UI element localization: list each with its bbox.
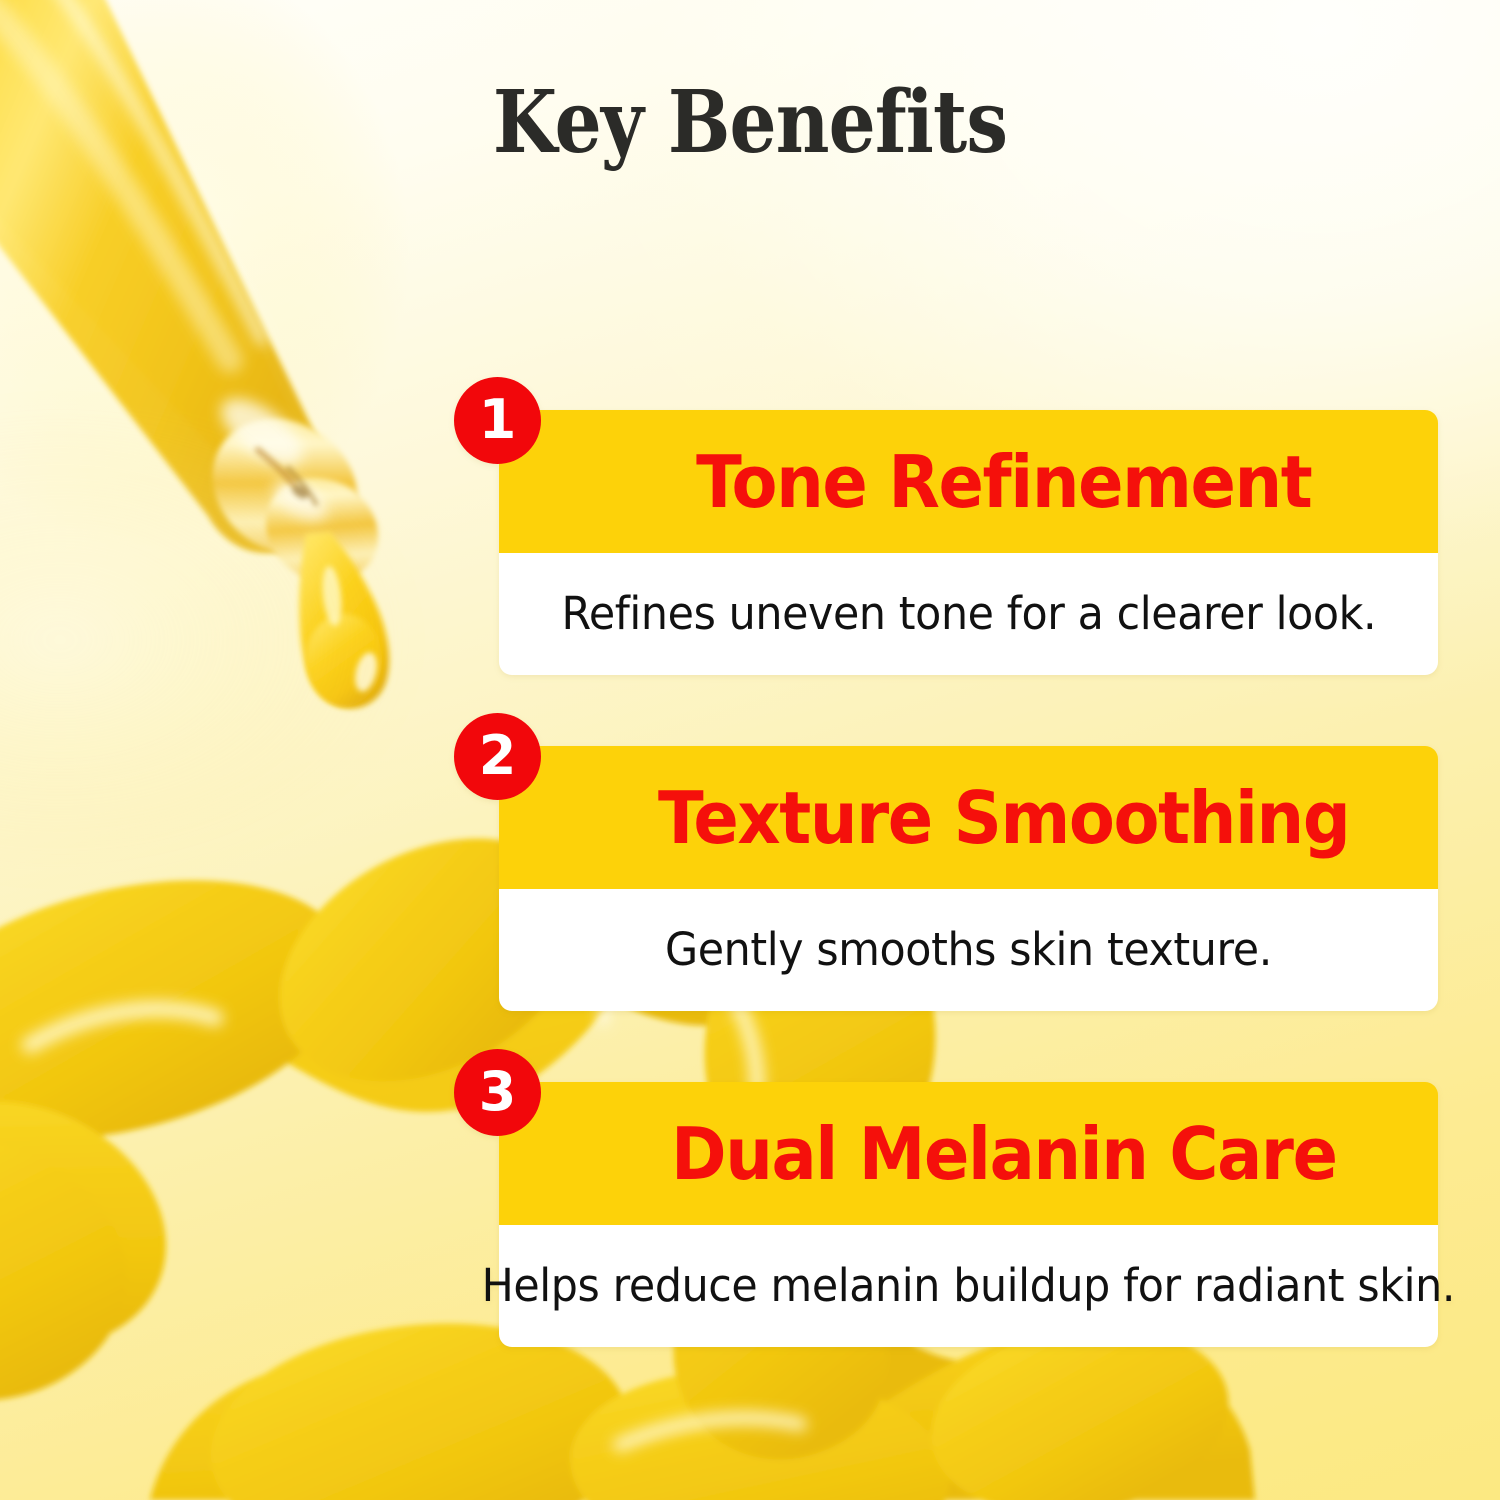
benefit-description-2: Gently smooths skin texture.	[665, 925, 1272, 975]
benefit-title-1: Tone Refinement	[696, 446, 1311, 518]
benefit-number-2: 2	[479, 729, 517, 783]
benefit-number-1: 1	[479, 393, 517, 447]
benefit-header-1: Tone Refinement	[499, 410, 1438, 553]
benefit-number-3: 3	[479, 1065, 517, 1119]
benefit-number-badge-3: 3	[454, 1049, 541, 1136]
key-benefits-infographic: Key Benefits 1 Tone Refinement Refines u…	[0, 0, 1500, 1500]
benefits-list: 1 Tone Refinement Refines uneven tone fo…	[499, 410, 1438, 1347]
benefit-header-3: Dual Melanin Care	[499, 1082, 1438, 1225]
benefit-description-3: Helps reduce melanin buildup for radiant…	[482, 1261, 1455, 1311]
benefit-header-2: Texture Smoothing	[499, 746, 1438, 889]
benefit-description-1: Refines uneven tone for a clearer look.	[561, 589, 1376, 639]
benefit-number-badge-1: 1	[454, 377, 541, 464]
benefit-card-1[interactable]: 1 Tone Refinement Refines uneven tone fo…	[499, 410, 1438, 675]
page-title: Key Benefits	[105, 78, 1395, 168]
benefit-title-2: Texture Smoothing	[658, 782, 1349, 854]
benefit-body-3: Helps reduce melanin buildup for radiant…	[499, 1225, 1438, 1347]
benefit-card-3[interactable]: 3 Dual Melanin Care Helps reduce melanin…	[499, 1082, 1438, 1347]
benefit-number-badge-2: 2	[454, 713, 541, 800]
benefit-body-2: Gently smooths skin texture.	[499, 889, 1438, 1011]
benefit-body-1: Refines uneven tone for a clearer look.	[499, 553, 1438, 675]
benefit-card-2[interactable]: 2 Texture Smoothing Gently smooths skin …	[499, 746, 1438, 1011]
benefit-title-3: Dual Melanin Care	[671, 1118, 1337, 1190]
serum-droplet	[299, 532, 389, 708]
